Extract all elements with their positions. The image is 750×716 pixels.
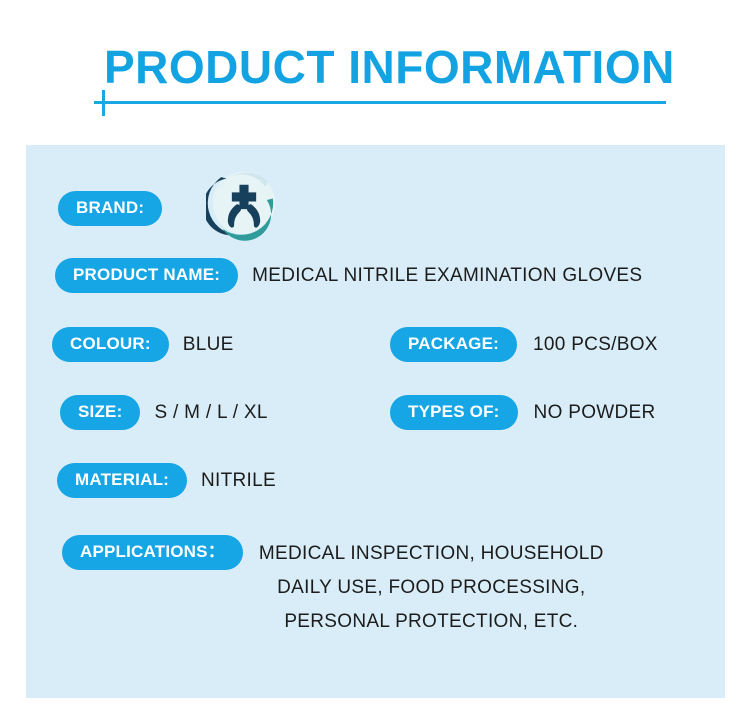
label-package: PACKAGE:: [390, 327, 517, 362]
value-material: NITRILE: [201, 469, 276, 493]
value-applications-line-3: PERSONAL PROTECTION, ETC.: [259, 605, 604, 639]
value-applications: MEDICAL INSPECTION, HOUSEHOLD DAILY USE,…: [259, 535, 604, 639]
row-package: PACKAGE: 100 PCS/BOX: [390, 327, 658, 362]
row-colour: COLOUR: BLUE: [52, 327, 234, 362]
value-package: 100 PCS/BOX: [533, 333, 658, 357]
value-colour: BLUE: [183, 333, 234, 357]
value-size: S / M / L / XL: [154, 401, 267, 425]
row-product-name: PRODUCT NAME: MEDICAL NITRILE EXAMINATIO…: [55, 258, 642, 293]
row-material: MATERIAL: NITRILE: [57, 463, 276, 498]
row-size: SIZE: S / M / L / XL: [60, 395, 268, 430]
label-types-of: TYPES OF:: [390, 395, 518, 430]
title-divider-line: [94, 101, 666, 104]
value-product-name: MEDICAL NITRILE EXAMINATION GLOVES: [252, 264, 642, 288]
page-title: PRODUCT INFORMATION: [104, 42, 675, 92]
row-types-of: TYPES OF: NO POWDER: [390, 395, 656, 430]
label-colour: COLOUR:: [52, 327, 169, 362]
label-brand: BRAND:: [58, 191, 162, 226]
row-brand: BRAND:: [58, 191, 176, 226]
label-applications: APPLICATIONS：: [62, 535, 243, 570]
value-types-of: NO POWDER: [534, 401, 656, 425]
product-information-panel: BRAND: PRODUCT NAME: MEDICAL NITRILE EXA…: [26, 145, 725, 698]
title-divider-tick: [102, 90, 105, 116]
label-product-name: PRODUCT NAME:: [55, 258, 238, 293]
page-header: PRODUCT INFORMATION: [0, 0, 750, 145]
value-applications-line-2: DAILY USE, FOOD PROCESSING,: [259, 571, 604, 605]
value-applications-line-1: MEDICAL INSPECTION, HOUSEHOLD: [259, 537, 604, 571]
label-size: SIZE:: [60, 395, 140, 430]
row-applications: APPLICATIONS： MEDICAL INSPECTION, HOUSEH…: [62, 535, 604, 639]
label-material: MATERIAL:: [57, 463, 187, 498]
medical-hands-cross-logo-icon: [206, 165, 282, 241]
